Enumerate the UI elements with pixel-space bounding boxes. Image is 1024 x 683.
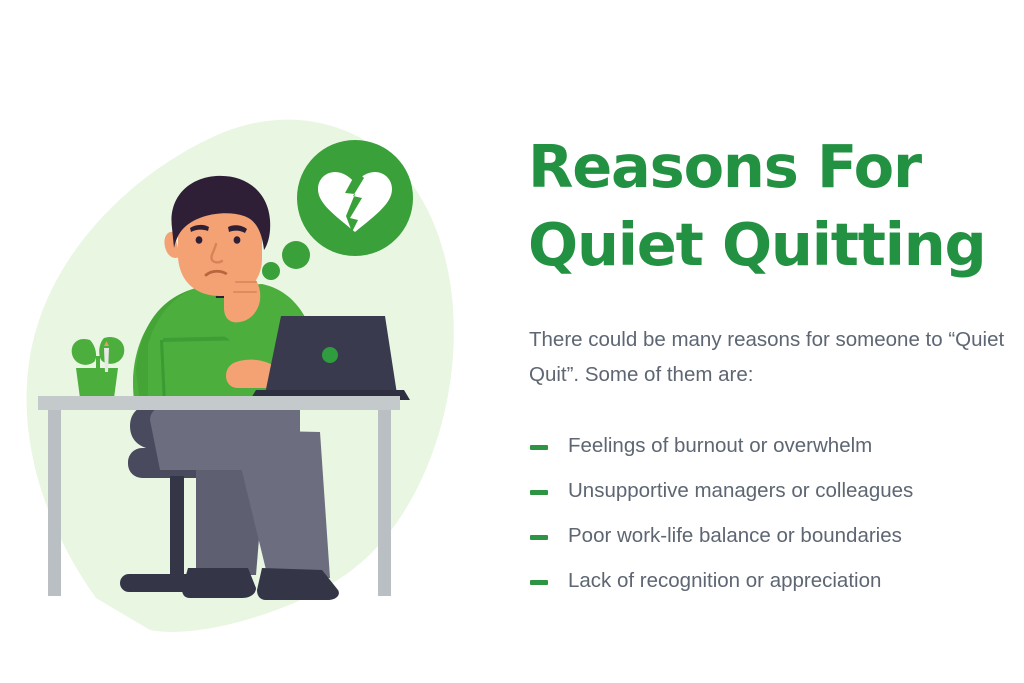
thought-bubble-dot-large [282, 241, 310, 269]
dash-icon [530, 490, 548, 495]
reasons-list: Feelings of burnout or overwhelm Unsuppo… [530, 424, 1020, 604]
dash-icon [530, 535, 548, 540]
hip-block [150, 404, 300, 470]
list-item: Unsupportive managers or colleagues [530, 469, 1020, 514]
list-item: Lack of recognition or appreciation [530, 559, 1020, 604]
text-column: Reasons For Quiet Quitting There could b… [520, 0, 1024, 683]
list-item-label: Poor work-life balance or boundaries [568, 524, 902, 549]
chair-column [170, 476, 184, 580]
eye-right [234, 236, 241, 244]
infographic-slide: Reasons For Quiet Quitting There could b… [0, 0, 1024, 683]
shoe-back [182, 568, 256, 598]
desk-top [38, 396, 400, 410]
sad-employee-at-desk-illustration [0, 0, 500, 683]
dash-icon [530, 445, 548, 450]
desk-leg-right [378, 410, 391, 596]
intro-paragraph: There could be many reasons for someone … [529, 322, 1005, 393]
laptop-logo [322, 347, 338, 363]
list-item-label: Feelings of burnout or overwhelm [568, 434, 872, 459]
list-item: Poor work-life balance or boundaries [530, 514, 1020, 559]
list-item: Feelings of burnout or overwhelm [530, 424, 1020, 469]
thought-bubble-broken-heart [297, 140, 413, 256]
thought-bubble-dot-small [262, 262, 280, 280]
list-item-label: Lack of recognition or appreciation [568, 569, 881, 594]
eye-left [196, 236, 203, 244]
dash-icon [530, 580, 548, 585]
plant-pot [76, 368, 118, 398]
page-title: Reasons For Quiet Quitting [528, 128, 1018, 285]
desk-leg-left [48, 410, 61, 596]
list-item-label: Unsupportive managers or colleagues [568, 479, 913, 504]
